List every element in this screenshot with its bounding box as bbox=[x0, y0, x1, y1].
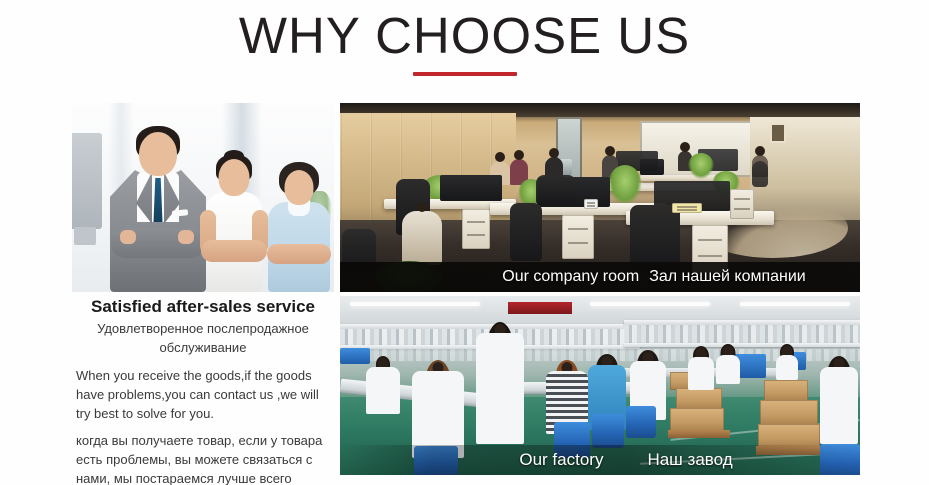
ceiling-light-3 bbox=[740, 302, 850, 306]
company-office-photo: Our company room Зал нашей компании bbox=[340, 103, 860, 292]
ceiling-light-1 bbox=[350, 302, 480, 306]
carton-4 bbox=[764, 380, 808, 402]
factory-photo-caption: Our factory Наш завод bbox=[340, 445, 860, 475]
factory-worker-1 bbox=[366, 358, 400, 414]
pallet-1 bbox=[668, 430, 730, 438]
head bbox=[285, 170, 314, 205]
office-chair-4 bbox=[536, 175, 576, 205]
factory-shelf-4 bbox=[624, 343, 860, 347]
background-monitor bbox=[72, 133, 102, 229]
factory-red-banner bbox=[508, 302, 572, 314]
factory-worker-7 bbox=[688, 348, 714, 390]
office-photo-caption: Our company room Зал нашей компании bbox=[340, 262, 860, 292]
factory-worker-8 bbox=[716, 346, 740, 384]
desk-item-yellow bbox=[672, 203, 702, 213]
page-title: WHY CHOOSE US bbox=[0, 8, 929, 64]
wall-picture-frame bbox=[770, 123, 786, 143]
torso bbox=[776, 355, 798, 380]
service-paragraph-ru: когда вы получаете товар, если у товара … bbox=[76, 431, 334, 485]
folded-arms bbox=[267, 244, 331, 264]
head bbox=[139, 132, 177, 176]
person-businessman bbox=[110, 124, 206, 292]
factory-photo: Our factory Наш завод bbox=[340, 296, 860, 475]
office-caption-en: Our company room bbox=[502, 268, 639, 286]
left-column bbox=[72, 103, 334, 292]
desk-item-white bbox=[584, 199, 598, 209]
desk-partition-1 bbox=[440, 175, 502, 201]
factory-caption-en: Our factory bbox=[519, 451, 603, 469]
factory-caption-ru: Наш завод bbox=[647, 451, 732, 469]
office-chair-6 bbox=[752, 161, 768, 187]
right-column: Our company room Зал нашей компании bbox=[340, 103, 860, 475]
service-paragraph-en: When you receive the goods,if the goods … bbox=[76, 366, 334, 423]
desk-plant-4 bbox=[688, 153, 714, 179]
carton-2 bbox=[676, 388, 722, 410]
factory-worker-10 bbox=[820, 358, 858, 444]
factory-worker-3 bbox=[476, 324, 524, 444]
page-title-block: WHY CHOOSE US bbox=[0, 8, 929, 76]
carton-3 bbox=[670, 408, 724, 432]
person-woman-blue-top bbox=[264, 162, 334, 292]
business-team-photo bbox=[72, 103, 334, 292]
after-sales-text-block: Satisfied after-sales service Удовлетвор… bbox=[72, 296, 334, 485]
office-caption-ru: Зал нашей компании bbox=[649, 268, 806, 286]
desk-pedestal-1 bbox=[462, 209, 490, 249]
factory-worker-2 bbox=[412, 362, 464, 458]
folded-arms bbox=[201, 240, 267, 262]
desk-pedestal-2 bbox=[562, 215, 594, 259]
desk-pedestal-4 bbox=[730, 189, 754, 219]
service-title-en: Satisfied after-sales service bbox=[72, 296, 334, 318]
blue-stool-3 bbox=[626, 406, 656, 438]
torso bbox=[688, 357, 714, 390]
torso bbox=[820, 367, 858, 444]
office-worker-foreground bbox=[402, 211, 442, 265]
why-choose-us-banner: WHY CHOOSE US bbox=[0, 0, 929, 485]
factory-shelf-items-2 bbox=[624, 325, 860, 343]
blue-stool-2 bbox=[592, 414, 624, 448]
hand-right bbox=[178, 230, 194, 244]
service-title-ru-line2: обслуживание bbox=[72, 339, 334, 356]
torso bbox=[366, 367, 400, 414]
person-woman-white-top bbox=[198, 152, 270, 292]
factory-worker-9 bbox=[776, 346, 798, 380]
ceiling-light-2 bbox=[590, 302, 710, 306]
head bbox=[219, 159, 250, 196]
carton-5 bbox=[760, 400, 818, 426]
title-underline-accent bbox=[413, 72, 517, 76]
office-chair-2 bbox=[510, 203, 542, 261]
torso bbox=[716, 355, 740, 384]
desk-plant-3 bbox=[608, 165, 642, 205]
service-title-ru-line1: Удовлетворенное послепродажное bbox=[72, 320, 334, 337]
hand-left bbox=[120, 230, 136, 244]
torso bbox=[476, 333, 524, 444]
